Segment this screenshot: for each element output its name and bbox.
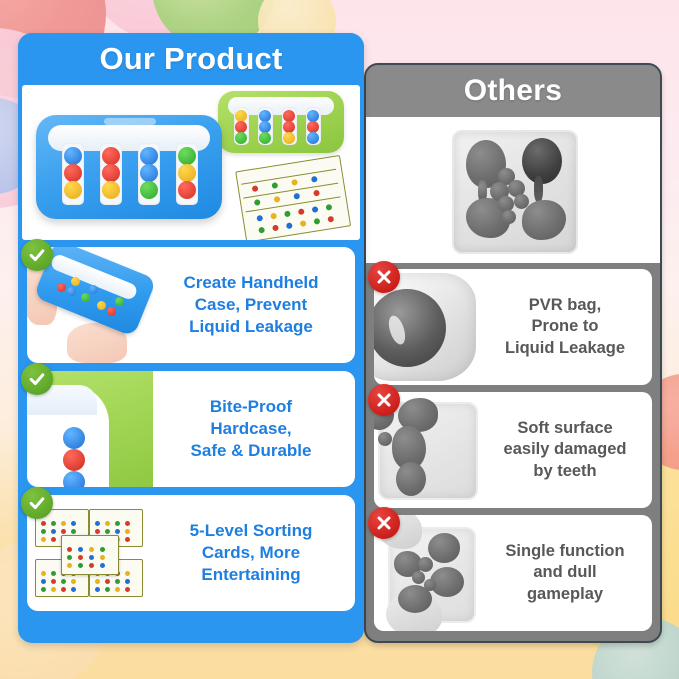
list-item-label: Single function and dull gameplay (482, 541, 652, 604)
others-title: Others (464, 74, 563, 108)
text-line: Single function (486, 541, 644, 562)
list-item: Single function and dull gameplay (374, 515, 652, 631)
text-line: easily damaged (486, 439, 644, 460)
others-hero-image (366, 117, 660, 263)
others-header: Others (366, 65, 660, 117)
list-item: Create Handheld Case, Prevent Liquid Lea… (27, 247, 355, 363)
text-line: Soft surface (486, 418, 644, 439)
our-product-hero-image (22, 85, 360, 240)
list-item-label: Soft surface easily damaged by teeth (482, 418, 652, 481)
text-line: by teeth (486, 461, 644, 482)
list-item: PVR bag, Prone to Liquid Leakage (374, 269, 652, 385)
text-line: Cards, More (155, 542, 347, 564)
text-line: PVR bag, (486, 295, 644, 316)
list-item-label: Create Handheld Case, Prevent Liquid Lea… (153, 272, 355, 338)
check-icon (21, 239, 53, 271)
text-line: 5-Level Sorting (155, 520, 347, 542)
check-icon (21, 487, 53, 519)
text-line: gameplay (486, 584, 644, 605)
text-line: Liquid Leakage (486, 338, 644, 359)
x-icon (368, 384, 400, 416)
our-product-title: Our Product (99, 41, 282, 77)
x-icon (368, 261, 400, 293)
text-line: Create Handheld (155, 272, 347, 294)
text-line: Case, Prevent (155, 294, 347, 316)
x-icon (368, 507, 400, 539)
list-item-label: Bite-Proof Hardcase, Safe & Durable (153, 396, 355, 462)
our-product-panel: Our Product (18, 33, 364, 643)
comparison-infographic: Others (0, 0, 679, 679)
text-line: and dull (486, 562, 644, 583)
text-line: Bite-Proof (155, 396, 347, 418)
others-panel: Others (364, 63, 662, 643)
list-item-label: PVR bag, Prone to Liquid Leakage (482, 295, 652, 358)
our-product-feature-list: Create Handheld Case, Prevent Liquid Lea… (18, 240, 364, 620)
list-item: 5-Level Sorting Cards, More Entertaining (27, 495, 355, 611)
text-line: Prone to (486, 316, 644, 337)
list-item: Soft surface easily damaged by teeth (374, 392, 652, 508)
text-line: Liquid Leakage (155, 316, 347, 338)
our-product-header: Our Product (18, 33, 364, 85)
text-line: Hardcase, (155, 418, 347, 440)
check-icon (21, 363, 53, 395)
others-feature-list: PVR bag, Prone to Liquid Leakage (366, 263, 660, 639)
list-item: Bite-Proof Hardcase, Safe & Durable (27, 371, 355, 487)
text-line: Safe & Durable (155, 440, 347, 462)
list-item-label: 5-Level Sorting Cards, More Entertaining (153, 520, 355, 586)
text-line: Entertaining (155, 564, 347, 586)
